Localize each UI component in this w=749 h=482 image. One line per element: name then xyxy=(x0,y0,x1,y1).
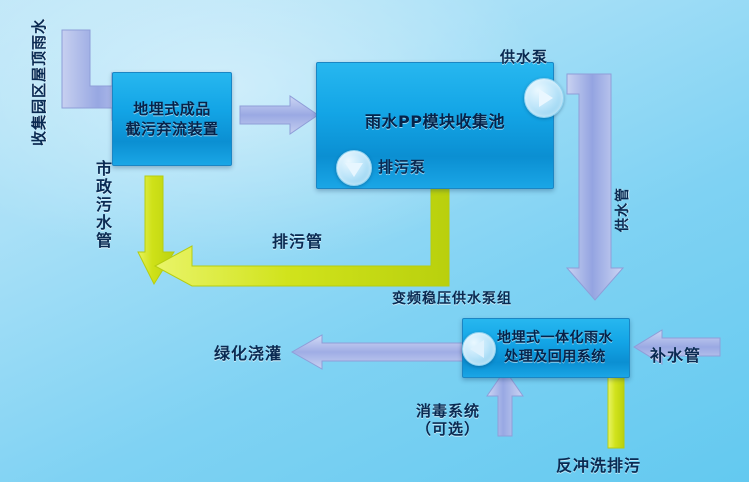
label-backwash-discharge: 反冲洗排污 xyxy=(556,452,641,476)
node-reuse-line2: 处理及回用系统 xyxy=(497,348,613,367)
node-pp-tank-label: 雨水PP模块收集池 xyxy=(365,111,505,133)
arrow-interceptor-to-tank xyxy=(240,96,318,134)
flow-diagram: 地埋式成品 截污弃流装置 雨水PP模块收集池 地埋式一体化雨水 处理及回用系统 … xyxy=(0,0,749,482)
label-disinfection-system: 消毒系统 （可选） xyxy=(402,402,494,438)
node-interceptor-line1: 地埋式成品 xyxy=(125,99,218,119)
arrow-irrigation xyxy=(292,335,468,369)
supply-pump-label: 供水泵 xyxy=(500,46,548,67)
arrow-backwash-discharge xyxy=(600,372,634,448)
label-inlet-rainwater: 收集园区屋顶雨水 xyxy=(28,18,49,146)
arrow-supply-pipe xyxy=(565,72,635,300)
label-makeup-pipe: 补水管 xyxy=(650,342,701,366)
booster-pump-set-label: 变频稳压供水泵组 xyxy=(392,288,512,308)
label-supply-pipe: 供水管 xyxy=(612,187,632,232)
supply-pump-icon[interactable] xyxy=(524,78,564,118)
label-irrigation: 绿化浇灌 xyxy=(214,340,282,364)
sewage-pump-label: 排污泵 xyxy=(378,156,426,177)
node-interceptor-line2: 截污弃流装置 xyxy=(125,119,218,139)
triangle-left-icon xyxy=(470,340,484,358)
triangle-down-icon xyxy=(345,163,363,177)
node-reuse-line1: 地埋式一体化雨水 xyxy=(497,329,613,348)
node-interceptor-device[interactable]: 地埋式成品 截污弃流装置 xyxy=(112,72,232,166)
sewage-pump-icon[interactable] xyxy=(336,150,372,186)
booster-pump-icon[interactable] xyxy=(462,332,496,366)
label-municipal-sewer: 市政污水管 xyxy=(96,160,112,250)
label-disinfection-line1: 消毒系统 xyxy=(402,402,494,420)
triangle-right-icon xyxy=(539,89,553,107)
label-disinfection-line2: （可选） xyxy=(402,420,494,438)
label-sewage-pipe: 排污管 xyxy=(272,228,323,252)
